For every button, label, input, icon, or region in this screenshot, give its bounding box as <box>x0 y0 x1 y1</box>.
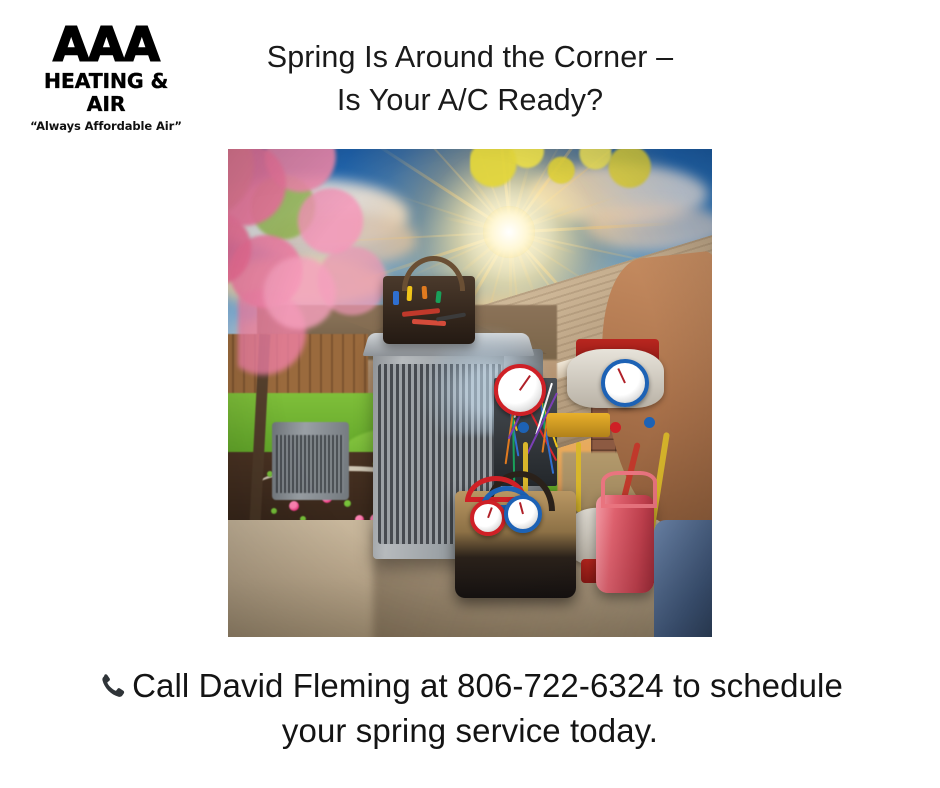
low-pressure-gauge <box>494 364 546 416</box>
technician-jeans <box>654 520 712 637</box>
call-to-action: Call David Fleming at 806-722-6324 to sc… <box>70 663 870 753</box>
headline-line-1: Spring Is Around the Corner – <box>210 36 730 79</box>
refrigerant-recovery-tank <box>596 495 654 593</box>
headline-line-2: Is Your A/C Ready? <box>210 79 730 122</box>
manifold-body <box>547 413 610 437</box>
blossom-tree-canopy <box>238 227 378 377</box>
hand-tool <box>407 286 413 301</box>
cta-line-1: Call David Fleming at 806-722-6324 to sc… <box>70 663 870 708</box>
logo-name: AAA <box>26 24 186 68</box>
gauge-needle <box>617 368 626 383</box>
hand-tool <box>421 285 427 298</box>
sun-core <box>483 206 535 258</box>
gauge-needle <box>487 508 493 519</box>
foliage <box>271 508 277 514</box>
cta-line-2: your spring service today. <box>70 708 870 753</box>
hand-tool <box>393 291 399 305</box>
gauge-needle <box>519 375 531 391</box>
tank-valve-collar <box>601 471 657 508</box>
logo-tagline: “Always Affordable Air” <box>26 119 186 134</box>
logo-subtitle: HEATING & AIR <box>26 70 186 116</box>
high-pressure-gauge <box>601 359 649 407</box>
cta-text-1: Call David Fleming at 806-722-6324 to sc… <box>132 667 843 704</box>
yellow-hose <box>576 442 581 512</box>
phone-icon <box>97 666 125 694</box>
hero-photo <box>228 149 712 637</box>
gauge-needle <box>519 503 524 515</box>
company-logo: AAA HEATING & AIR “Always Affordable Air… <box>26 24 186 134</box>
headline: Spring Is Around the Corner – Is Your A/… <box>210 36 730 122</box>
background-ac-unit <box>272 422 349 500</box>
promo-flyer: AAA HEATING & AIR “Always Affordable Air… <box>0 0 940 788</box>
yellow-blossom-branch <box>470 149 660 199</box>
